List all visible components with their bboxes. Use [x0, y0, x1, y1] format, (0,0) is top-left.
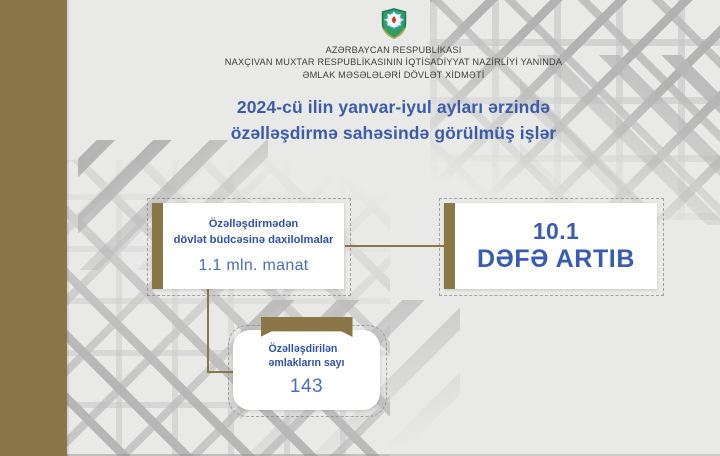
card-privatized-count: Özəlləşdirilən əmlakların sayı 143: [233, 330, 380, 410]
card-budget-value: 1.1 mln. manat: [198, 257, 308, 275]
card-budget-revenue: Özəlləşdirmədən dövlət büdcəsinə daxilol…: [152, 203, 344, 289]
poster-header: AZƏRBAYCAN RESPUBLİKASI NAXÇIVAN MUXTAR …: [67, 4, 720, 146]
card-growth-accent-tab: [444, 203, 455, 289]
card-count-caption-line-1: Özəlləşdirilən: [269, 343, 338, 355]
page-title-line-1: 2024-cü ilin yanvar-iyul ayları ərzində: [67, 95, 720, 120]
org-line-ministry: NAXÇIVAN MUXTAR RESPUBLİKASININ İQTİSADİ…: [67, 56, 720, 68]
azerbaijan-state-emblem-icon: [377, 6, 411, 40]
card-count-caption-line-2: əmlakların sayı: [269, 357, 345, 369]
page-title-line-2: özəlləşdirmə sahəsində görülmüş işlər: [67, 121, 720, 146]
card-budget-caption: Özəlləşdirmədən dövlət büdcəsinə daxilol…: [174, 217, 334, 247]
connector-budget-to-growth: [345, 245, 445, 247]
page-title: 2024-cü ilin yanvar-iyul ayları ərzində …: [67, 95, 720, 146]
card-budget-body: Özəlləşdirmədən dövlət büdcəsinə daxilol…: [163, 203, 344, 289]
card-growth-body: 10.1 DƏFƏ ARTIB: [455, 203, 657, 289]
connector-budget-down: [207, 289, 209, 373]
org-line-republic: AZƏRBAYCAN RESPUBLİKASI: [67, 44, 720, 56]
org-line-service: ƏMLAK MƏSƏLƏLƏRİ DÖVLƏT XİDMƏTİ: [67, 69, 720, 81]
card-growth-value: 10.1: [533, 218, 579, 245]
card-count-body: Özəlləşdirilən əmlakların sayı 143: [233, 330, 380, 410]
card-budget-caption-line-2: dövlət büdcəsinə daxilolmalar: [174, 234, 334, 246]
card-budget-caption-line-1: Özəlləşdirmədən: [209, 218, 299, 230]
card-count-value: 143: [290, 376, 323, 398]
card-growth-multiplier: 10.1 DƏFƏ ARTIB: [444, 203, 657, 289]
card-budget-accent-tab: [152, 203, 163, 289]
card-growth-label: DƏFƏ ARTIB: [477, 245, 635, 275]
left-accent-band: [0, 0, 67, 456]
infographic-poster: AZƏRBAYCAN RESPUBLİKASI NAXÇIVAN MUXTAR …: [0, 0, 720, 456]
card-count-caption: Özəlləşdirilən əmlakların sayı: [269, 342, 345, 371]
